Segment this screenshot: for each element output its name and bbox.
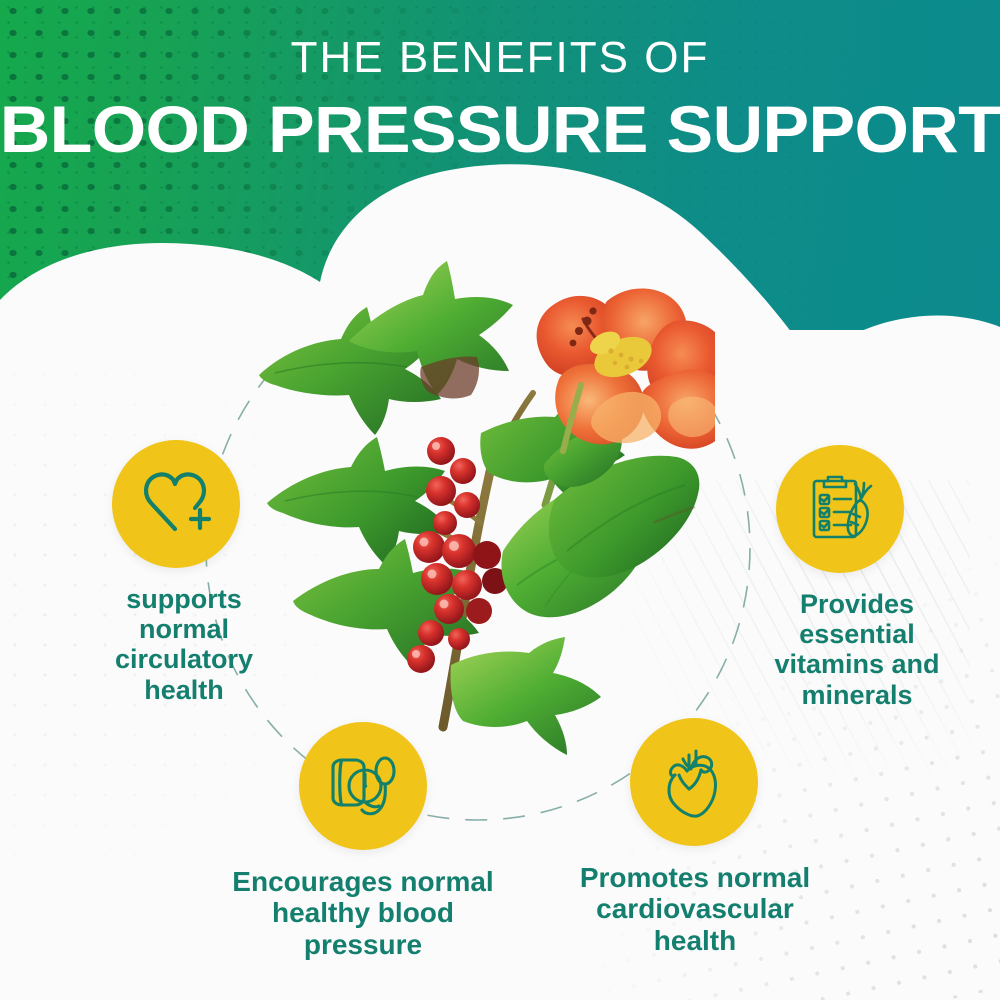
label-line: cardiovascular (596, 893, 794, 924)
blood-pressure-monitor-icon (325, 750, 401, 822)
benefit-circulatory-bubble[interactable] (112, 440, 240, 568)
label-line: normal (139, 614, 229, 644)
benefit-blood-pressure-label: Encourages normal healthy blood pressure (218, 866, 508, 960)
label-line: Promotes normal (580, 862, 810, 893)
benefit-circulatory[interactable]: supports normal circulatory health (48, 440, 320, 705)
clipboard-checklist-carrot-icon (805, 474, 875, 544)
label-line: minerals (801, 680, 912, 710)
benefit-vitamins-label: Provides essential vitamins and minerals (718, 589, 996, 710)
label-line: vitamins and (774, 649, 939, 679)
label-line: healthy blood (272, 897, 454, 928)
benefit-cardiovascular-label: Promotes normal cardiovascular health (552, 862, 838, 956)
heart-plus-icon (139, 467, 213, 541)
label-line: Encourages normal (232, 866, 493, 897)
benefit-vitamins-bubble[interactable] (776, 445, 904, 573)
label-line: circulatory (115, 644, 253, 674)
benefit-cardiovascular-bubble[interactable] (630, 718, 758, 846)
label-line: essential (799, 619, 915, 649)
benefit-blood-pressure-bubble[interactable] (299, 722, 427, 850)
benefits-infographic: THE BENEFITS OF BLOOD PRESSURE SUPPORT (0, 0, 1000, 1000)
benefit-vitamins[interactable]: Provides essential vitamins and minerals (718, 445, 996, 710)
label-line: supports (126, 584, 242, 614)
benefit-blood-pressure[interactable]: Encourages normal healthy blood pressure (218, 722, 508, 960)
label-line: pressure (304, 929, 422, 960)
anatomical-heart-icon (661, 745, 727, 819)
label-line: health (144, 675, 224, 705)
label-line: Provides (800, 589, 914, 619)
label-line: health (654, 925, 736, 956)
benefit-circulatory-label: supports normal circulatory health (48, 584, 320, 705)
benefit-cardiovascular[interactable]: Promotes normal cardiovascular health (552, 718, 838, 956)
